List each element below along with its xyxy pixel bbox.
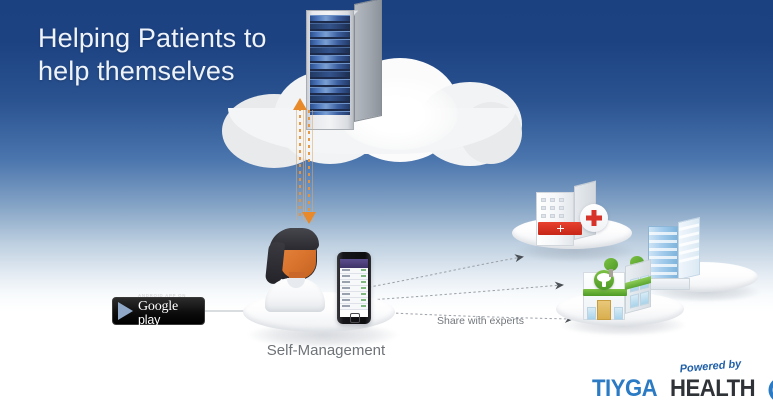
brand-name-health: HEALTH <box>670 375 755 403</box>
powered-by-label: Powered by <box>679 358 742 375</box>
pharmacy-icon <box>583 264 655 320</box>
self-management-label: Self-Management <box>256 342 396 359</box>
share-with-experts-label: Share with experts <box>437 315 524 327</box>
pharmacy-door <box>597 300 611 320</box>
patient-avatar <box>263 228 327 310</box>
hospital-red-cross-banner <box>538 222 582 235</box>
red-cross-icon <box>580 204 608 232</box>
smartphone-icon <box>337 252 371 324</box>
google-play-triangle-icon <box>118 302 133 320</box>
brand-logo: Powered by TIYGA HEALTH ™ <box>592 358 768 404</box>
infographic-canvas: Helping Patients to help themselves <box>0 0 773 420</box>
office-tower-icon <box>648 226 702 288</box>
phone-home-button <box>350 313 360 323</box>
hospital-icon <box>536 182 598 246</box>
tiyga-mark-icon: ™ <box>766 374 773 404</box>
google-play-badge[interactable]: ANDROID APP ON Google play <box>112 297 205 325</box>
google-play-wordmark: Google play <box>138 300 199 328</box>
phone-screen <box>340 259 368 317</box>
google-play-word-play: play <box>138 313 160 327</box>
google-play-word-google: Google <box>138 299 178 314</box>
brand-name-tiyga: TIYGA <box>592 375 657 403</box>
phone-app-header <box>340 259 368 268</box>
